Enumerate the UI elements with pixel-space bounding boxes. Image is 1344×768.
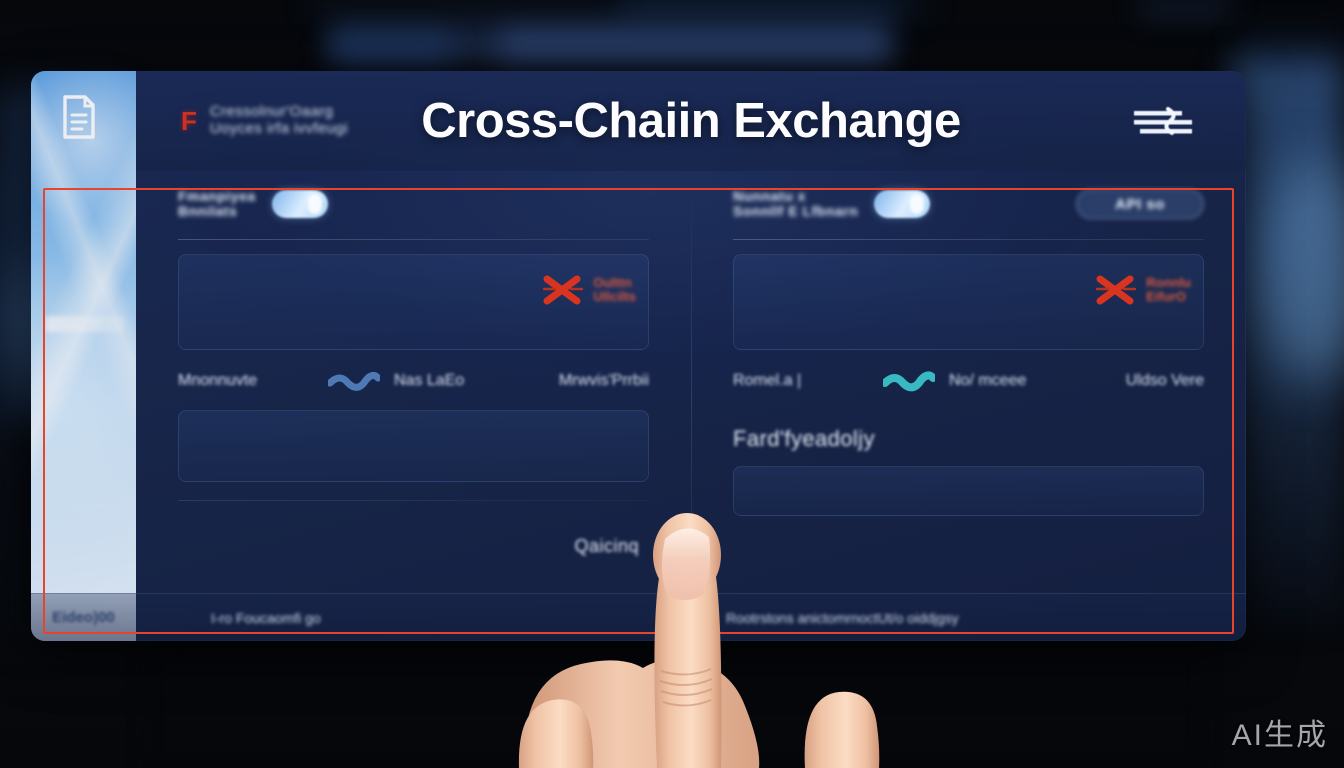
right-input-field[interactable]: Ronnlu EifurO xyxy=(733,254,1204,350)
right-error-line-2: EifurO xyxy=(1146,290,1191,304)
brand-line-1: Cressolnur'Oaarg xyxy=(210,104,348,121)
api-pill-button[interactable]: API so xyxy=(1076,189,1204,219)
screenshot-root: F Cressolnur'Oaarg Uoyces irfa ivvfeugi … xyxy=(0,0,1344,768)
left-metric-minimum: Mnonnuvte xyxy=(178,372,328,390)
left-error-text: Oulttn Ullcilts xyxy=(593,276,636,303)
right-metric-row: Romel.a | No/ mceee Uldso Vere xyxy=(733,366,1204,396)
right-error-indicator: Ronnlu EifurO xyxy=(1096,275,1191,305)
left-divider-1 xyxy=(178,239,649,240)
right-chip-row: Nunnatu x Sonnllf E Lfbnarn API so xyxy=(733,187,1204,221)
left-chip-row: Fmanpiyea Bnnilats xyxy=(178,187,649,221)
left-chip-label: Fmanpiyea Bnnilats xyxy=(178,189,256,218)
pointing-hand xyxy=(505,495,925,768)
left-metric-mid: Nas LaEo xyxy=(394,372,559,390)
sidebar-ghost-label xyxy=(45,316,125,332)
brand-logo-mark: F xyxy=(181,108,196,134)
footer-tag: Eideo)00 xyxy=(31,609,136,626)
right-divider-1 xyxy=(733,239,1204,240)
right-chip-label-line-2: Sonnllf E Lfbnarn xyxy=(733,204,858,219)
right-chip-label-line-1: Nunnatu x xyxy=(733,189,858,204)
ai-watermark: AI生成 xyxy=(1232,710,1328,754)
right-section-label: Fard'fyeadoljy xyxy=(733,426,1204,452)
right-metric-maximum: Uldso Vere xyxy=(1126,372,1204,390)
left-metric-maximum: Mrwvis'Prrbii xyxy=(559,372,649,390)
brand-line-2: Uoyces irfa ivvfeugi xyxy=(210,121,348,138)
left-chip-label-line-2: Bnnilats xyxy=(178,204,256,219)
wave-icon-teal xyxy=(883,370,935,392)
left-error-indicator: Oulttn Ullcilts xyxy=(543,275,636,305)
hamburger-menu-icon[interactable] xyxy=(1134,107,1196,141)
right-metric-mid: No/ mceee xyxy=(949,372,1126,390)
left-secondary-field[interactable] xyxy=(178,410,649,482)
sidebar[interactable] xyxy=(31,71,136,641)
left-chip-label-line-1: Fmanpiyea xyxy=(178,189,256,204)
app-header: F Cressolnur'Oaarg Uoyces irfa ivvfeugi … xyxy=(136,71,1246,171)
brand-text: Cressolnur'Oaarg Uoyces irfa ivvfeugi xyxy=(210,104,348,138)
brand[interactable]: F Cressolnur'Oaarg Uoyces irfa ivvfeugi xyxy=(181,104,481,138)
left-input-field[interactable]: Oulttn Ullcilts xyxy=(178,254,649,350)
left-error-line-2: Ullcilts xyxy=(593,290,636,304)
right-pill-toggle[interactable] xyxy=(874,190,930,218)
right-chip-label: Nunnatu x Sonnllf E Lfbnarn xyxy=(733,189,858,218)
right-error-text: Ronnlu EifurO xyxy=(1146,276,1191,303)
red-x-icon xyxy=(1096,275,1136,305)
left-metric-row: Mnonnuvte Nas LaEo Mrwvis'Prrbii xyxy=(178,366,649,396)
right-error-line-1: Ronnlu xyxy=(1146,276,1191,290)
wave-icon xyxy=(328,370,380,392)
red-x-icon xyxy=(543,275,583,305)
left-error-line-1: Oulttn xyxy=(593,276,636,290)
right-metric-minimum: Romel.a | xyxy=(733,372,883,390)
left-pill-toggle[interactable] xyxy=(272,190,328,218)
document-icon[interactable] xyxy=(61,95,97,139)
